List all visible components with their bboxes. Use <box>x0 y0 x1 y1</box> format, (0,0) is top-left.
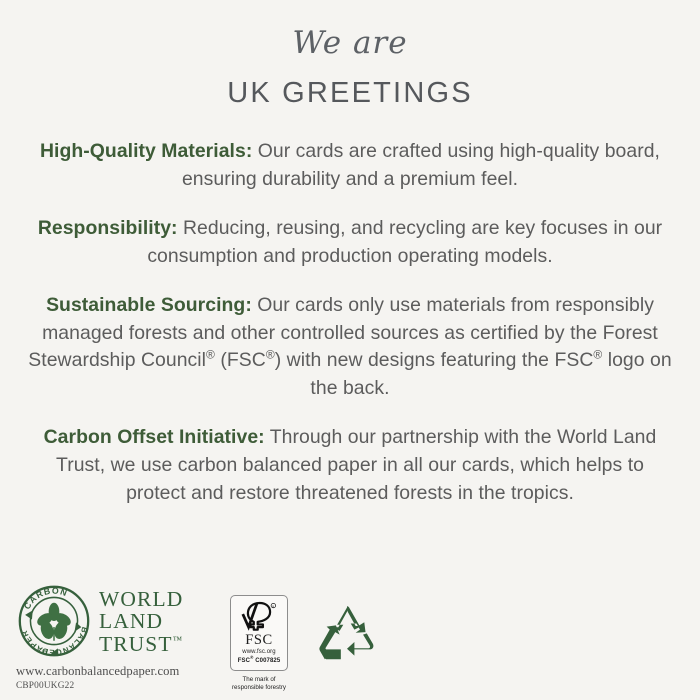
paragraph-text: Our cards are crafted using high-quality… <box>182 140 660 190</box>
paragraph-text: ) with new designs featuring the FSC <box>275 349 594 371</box>
recycling-logo <box>316 605 378 668</box>
wordmark-line-trust: TRUST™ <box>99 633 183 655</box>
registered-mark: ® <box>266 348 275 362</box>
carbon-balanced-paper-badge-icon: CARBON BALANCED PAPER <box>16 583 92 659</box>
world-land-trust-wordmark: WORLD LAND TRUST™ <box>99 588 183 655</box>
registered-mark: ® <box>593 348 602 362</box>
paragraph-text: (FSC <box>215 349 266 371</box>
certification-logos: CARBON BALANCED PAPER WORLD LAND TRUST™ … <box>16 583 378 692</box>
fsc-license-code: FSC® C007825 <box>238 658 281 664</box>
brand-heading: UK GREETINGS <box>0 77 700 110</box>
paragraph-high-quality-materials: High-Quality Materials: Our cards are cr… <box>26 138 674 193</box>
wordmark-line-world: WORLD <box>99 588 183 610</box>
paragraph-lede: High-Quality Materials: <box>40 140 252 162</box>
script-heading: We are <box>0 26 700 60</box>
fsc-license-number: C007825 <box>253 658 280 664</box>
paragraph-lede: Carbon Offset Initiative: <box>44 426 265 448</box>
recycling-icon <box>316 605 378 663</box>
world-land-trust-logo: CARBON BALANCED PAPER WORLD LAND TRUST™ … <box>16 583 212 691</box>
fsc-caption: The mark of responsible forestry <box>224 676 294 692</box>
paragraph-lede: Responsibility: <box>38 217 178 239</box>
svg-text:R: R <box>272 604 274 608</box>
paragraph-lede: Sustainable Sourcing: <box>46 294 252 316</box>
wordmark-trust-text: TRUST <box>99 632 173 656</box>
paragraph-carbon-offset-initiative: Carbon Offset Initiative: Through our pa… <box>26 424 674 507</box>
fsc-logo-box: R FSC www.fsc.org FSC® C007825 <box>230 595 288 671</box>
fsc-license-prefix: FSC <box>238 658 250 664</box>
trademark-mark: ™ <box>173 634 182 645</box>
wordmark-line-land: LAND <box>99 610 183 632</box>
fsc-tree-checkmark-icon: R <box>239 601 279 631</box>
carbon-balanced-paper-url[interactable]: www.carbonbalancedpaper.com <box>16 664 212 679</box>
paragraph-sustainable-sourcing: Sustainable Sourcing: Our cards only use… <box>26 292 674 402</box>
paragraph-text: Reducing, reusing, and recycling are key… <box>147 217 662 267</box>
paragraph-responsibility: Responsibility: Reducing, reusing, and r… <box>26 215 674 270</box>
certificate-code: CBP00UKG22 <box>16 681 212 691</box>
greeting-card-panel: We are UK GREETINGS High-Quality Materia… <box>0 0 700 700</box>
fsc-caption-line2: responsible forestry <box>224 684 294 692</box>
world-land-trust-row: CARBON BALANCED PAPER WORLD LAND TRUST™ <box>16 583 212 659</box>
fsc-logo: R FSC www.fsc.org FSC® C007825 The mark … <box>224 595 294 692</box>
fsc-name: FSC <box>245 633 273 648</box>
registered-mark: ® <box>206 348 215 362</box>
content-body: High-Quality Materials: Our cards are cr… <box>0 138 700 507</box>
header: We are UK GREETINGS <box>0 0 700 110</box>
fsc-url[interactable]: www.fsc.org <box>242 649 275 655</box>
fsc-caption-line1: The mark of <box>224 676 294 684</box>
